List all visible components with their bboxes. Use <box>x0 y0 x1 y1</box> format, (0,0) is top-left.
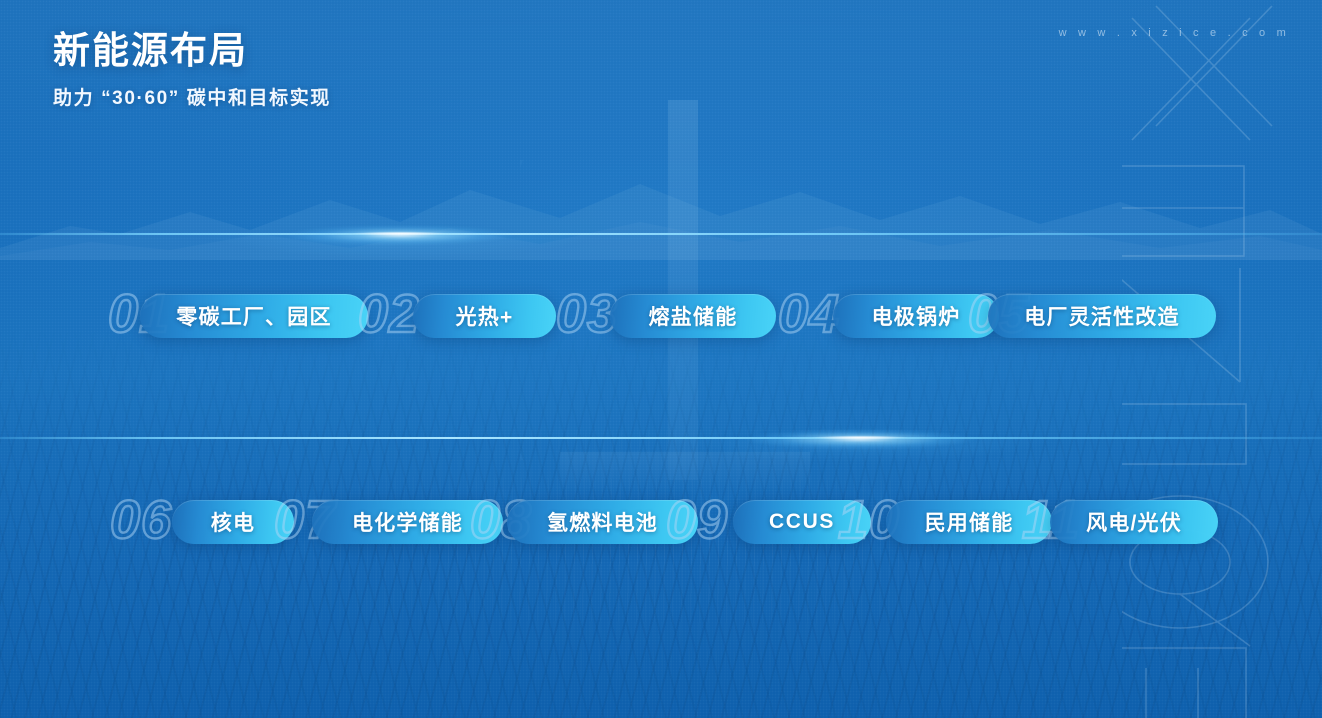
site-watermark: w w w . x i z i c e . c o m <box>1059 27 1290 39</box>
item-number-02: 02 <box>358 281 420 351</box>
category-pill-11[interactable]: 风电/光伏 <box>1050 500 1218 544</box>
divider-top <box>0 233 1322 235</box>
item-number-04: 04 <box>778 281 840 351</box>
pill-label: 民用储能 <box>925 507 1014 537</box>
slide-canvas: w w w . x i z i c e . c o m 新能源布局 助力 “30… <box>0 0 1322 718</box>
divider-bottom <box>0 437 1322 439</box>
pill-label: CCUS <box>769 510 835 534</box>
tower-base-shape <box>560 452 810 492</box>
category-pill-02[interactable]: 光热+ <box>413 294 556 338</box>
page-title: 新能源布局 <box>53 30 331 73</box>
divider-glow <box>250 222 550 248</box>
divider-glow-spread <box>600 437 1120 471</box>
pill-label: 电化学储能 <box>352 507 463 537</box>
divider-glow-core <box>795 435 925 440</box>
item-number-06: 06 <box>110 487 172 557</box>
header-block: 新能源布局 助力 “30·60” 碳中和目标实现 <box>53 30 331 110</box>
pill-label: 零碳工厂、园区 <box>176 301 331 331</box>
pill-label: 熔盐储能 <box>649 301 738 331</box>
pill-label: 核电 <box>211 507 255 537</box>
item-number-03: 03 <box>556 281 618 351</box>
pill-label: 氢燃料电池 <box>547 507 658 537</box>
category-pill-01[interactable]: 零碳工厂、园区 <box>140 294 368 338</box>
divider-line <box>0 233 1322 235</box>
solar-panel-rows-texture <box>0 430 1322 718</box>
pill-label: 风电/光伏 <box>1086 507 1182 537</box>
divider-glow-core <box>335 231 465 236</box>
mountain-silhouette <box>0 130 1322 260</box>
divider-line <box>0 437 1322 439</box>
row-one: 01零碳工厂、园区02光热+03熔盐储能04电极锅炉05电厂灵活性改造 <box>0 281 1322 351</box>
divider-glow <box>710 426 1010 452</box>
row-two: 06核电07电化学储能08氢燃料电池09CCUS10民用储能11风电/光伏 <box>0 487 1322 557</box>
pill-label: 光热+ <box>456 301 514 331</box>
category-pill-03[interactable]: 熔盐储能 <box>610 294 776 338</box>
decorative-outline-graphic <box>1122 0 1322 718</box>
pill-label: 电极锅炉 <box>872 301 961 331</box>
item-number-09: 09 <box>666 487 728 557</box>
category-pill-05[interactable]: 电厂灵活性改造 <box>988 294 1216 338</box>
pill-label: 电厂灵活性改造 <box>1024 301 1179 331</box>
divider-glow-spread <box>140 233 660 267</box>
page-subtitle: 助力 “30·60” 碳中和目标实现 <box>53 83 331 110</box>
